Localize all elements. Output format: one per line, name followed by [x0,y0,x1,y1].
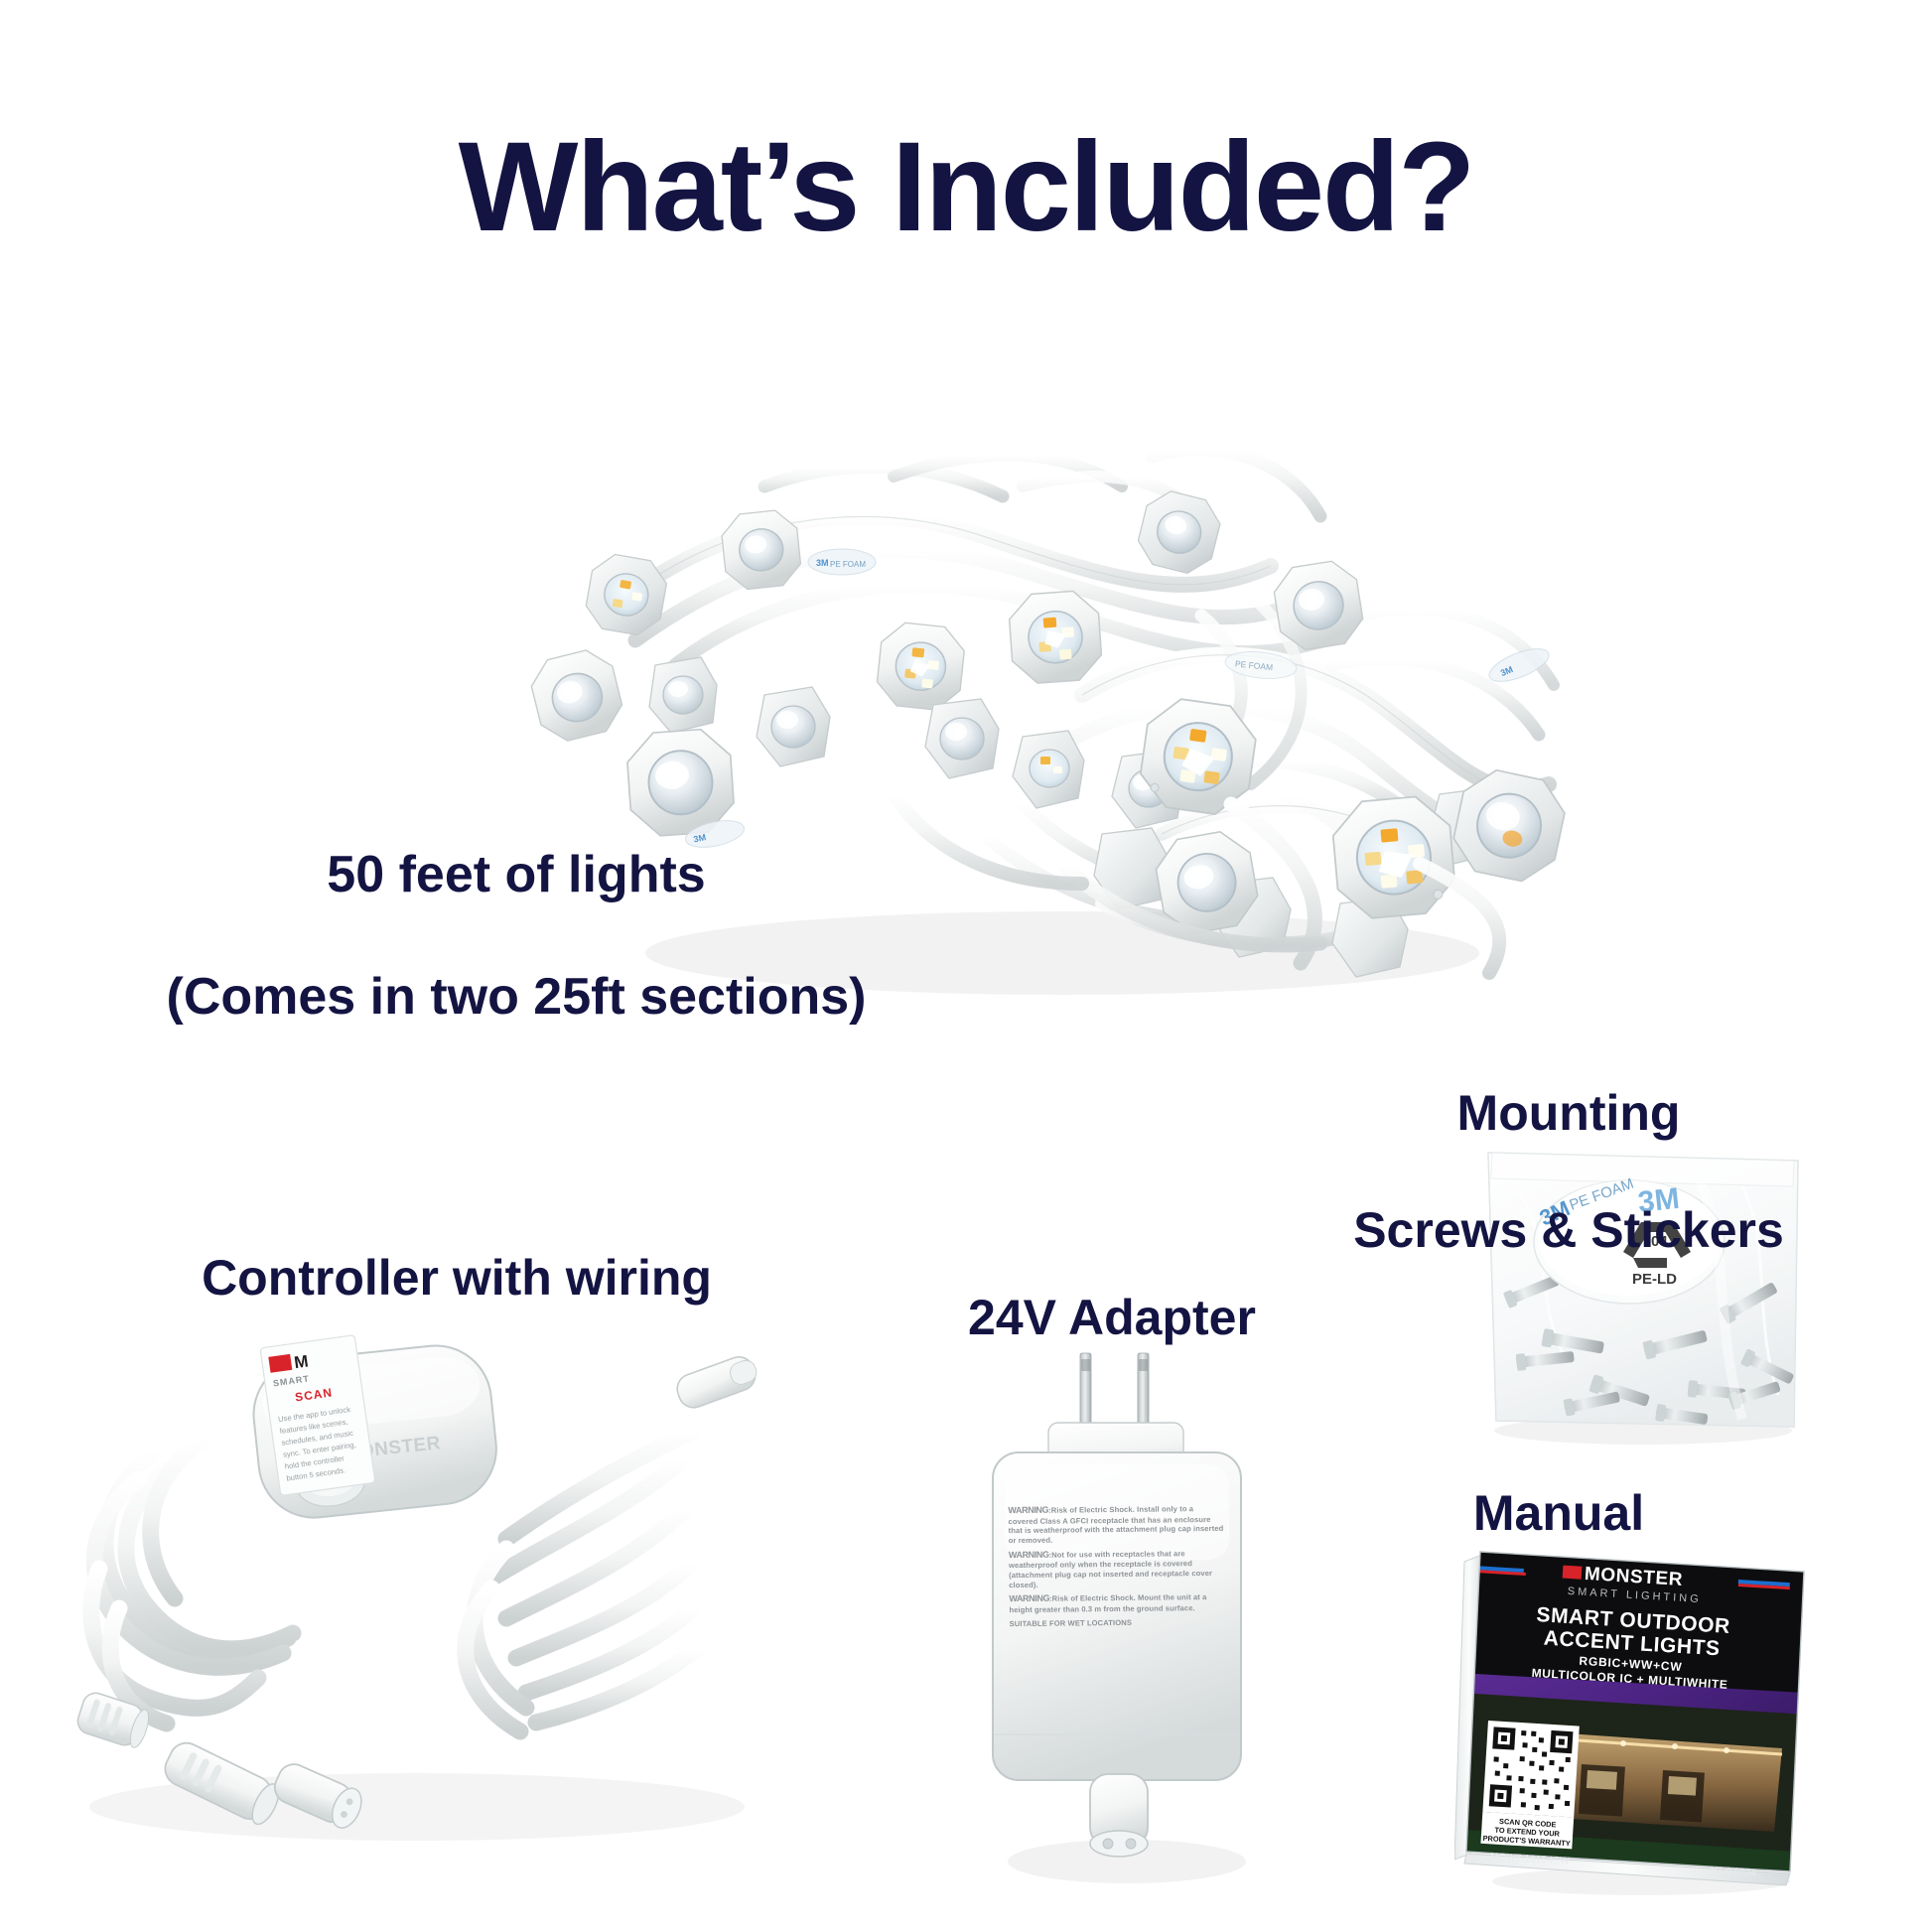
caption-mounting-line1: Mounting [1457,1085,1681,1141]
caption-manual: Manual [1390,1484,1727,1543]
svg-text:PE FOAM: PE FOAM [830,560,866,569]
adapter-warning-text: WARNING:Risk of Electric Shock. Install … [1008,1503,1225,1633]
manual-qr-code: SCAN QR CODE TO EXTEND YOUR PRODUCT’S WA… [1480,1721,1579,1849]
caption-controller: Controller with wiring [119,1249,794,1308]
product-image-manual: MONSTER SMART LIGHTING SMART OUTDOOR ACC… [1454,1544,1812,1896]
svg-text:3M: 3M [816,558,829,568]
caption-lights: 50 feet of lights (Comes in two 25ft sec… [149,784,884,1028]
adapter-wet-locations-text: SUITABLE FOR WET LOCATIONS [1010,1616,1226,1628]
page-title: What’s Included? [0,121,1932,254]
infographic-page: What’s Included? [0,0,1932,1932]
caption-adapter: 24V Adapter [874,1289,1350,1347]
caption-lights-line2: (Comes in two 25ft sections) [167,968,867,1026]
caption-mounting-line2: Screws & Stickers [1353,1202,1784,1258]
svg-text:M: M [293,1351,310,1372]
product-image-controller: MONSTER M SMART SCAN Use the app to unlo… [40,1311,794,1866]
product-image-adapter: WARNING:Risk of Electric Shock. Install … [953,1345,1301,1901]
adapter-warning-1-tag: WARNING [1008,1505,1048,1515]
caption-mounting: Mounting Screws & Stickers [1291,1026,1847,1260]
caption-lights-line1: 50 feet of lights [327,846,705,903]
manual-brand-mark [1563,1566,1583,1580]
adapter-warning-3-tag: WARNING [1009,1593,1049,1603]
adapter-warning-2-tag: WARNING [1009,1549,1049,1559]
